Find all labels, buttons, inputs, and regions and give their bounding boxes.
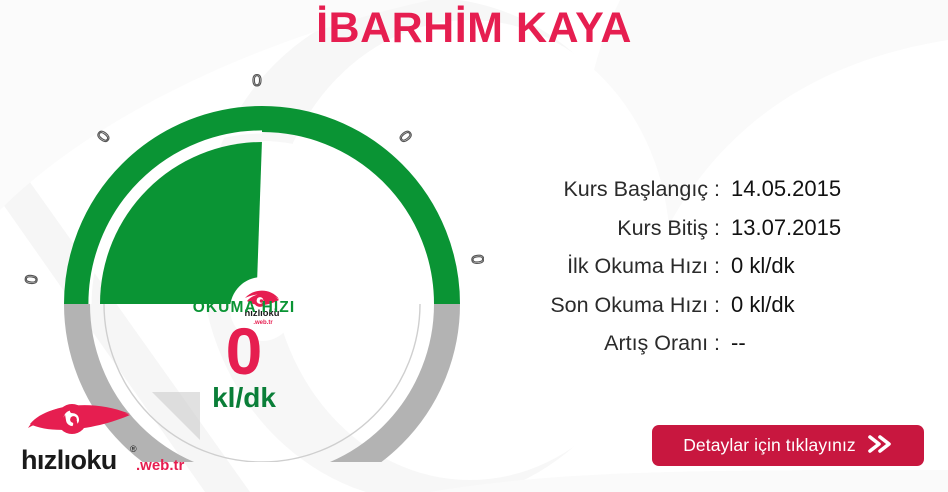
table-row: Kurs Başlangıç : 14.05.2015 [498, 176, 918, 215]
gauge-value: 0 [4, 319, 484, 384]
info-label-ilk-okuma-hizi: İlk Okuma Hızı : [498, 254, 720, 279]
brand-tld: .web.tr [136, 457, 184, 474]
details-button-label: Detaylar için tıklayınız [683, 435, 856, 456]
info-label-kurs-baslangic: Kurs Başlangıç : [498, 177, 720, 202]
info-value-kurs-baslangic: 14.05.2015 [731, 176, 841, 202]
gauge-tick-label-4: 0 [468, 254, 484, 265]
gauge-tick-label-0: 0 [252, 71, 261, 90]
gauge-tick-label-1: 0 [93, 127, 114, 146]
table-row: Artış Oranı : -- [498, 330, 918, 369]
table-row: Son Okuma Hızı : 0 kl/dk [498, 292, 918, 331]
info-value-kurs-bitis: 13.07.2015 [731, 215, 841, 241]
gauge-tick-label-3: 0 [22, 274, 42, 285]
brand-logo: hızlıoku ® .web.tr [20, 398, 170, 476]
brand-wordmark: hızlıoku [21, 445, 117, 476]
info-value-artis-orani: -- [731, 330, 746, 356]
info-value-son-okuma-hizi: 0 kl/dk [731, 292, 795, 318]
details-button[interactable]: Detaylar için tıklayınız [652, 425, 924, 466]
info-label-artis-orani: Artış Oranı : [498, 331, 720, 356]
gauge-tick-label-2: 0 [395, 127, 416, 146]
double-chevron-right-icon [867, 433, 893, 458]
table-row: Kurs Bitiş : 13.07.2015 [498, 215, 918, 254]
page-title: İBARHİM KAYA [0, 4, 948, 53]
course-info-table: Kurs Başlangıç : 14.05.2015 Kurs Bitiş :… [498, 176, 918, 369]
hizlioku-eye-icon [20, 398, 170, 448]
brand-registered-mark: ® [130, 444, 137, 454]
table-row: İlk Okuma Hızı : 0 kl/dk [498, 253, 918, 292]
gauge-caption: OKUMA HIZI 0 kl/dk [4, 299, 484, 414]
info-label-kurs-bitis: Kurs Bitiş : [498, 216, 720, 241]
info-label-son-okuma-hizi: Son Okuma Hızı : [498, 293, 720, 318]
speed-reading-result-card: İBARHİM KAYA [0, 0, 948, 492]
info-value-ilk-okuma-hizi: 0 kl/dk [731, 253, 795, 279]
